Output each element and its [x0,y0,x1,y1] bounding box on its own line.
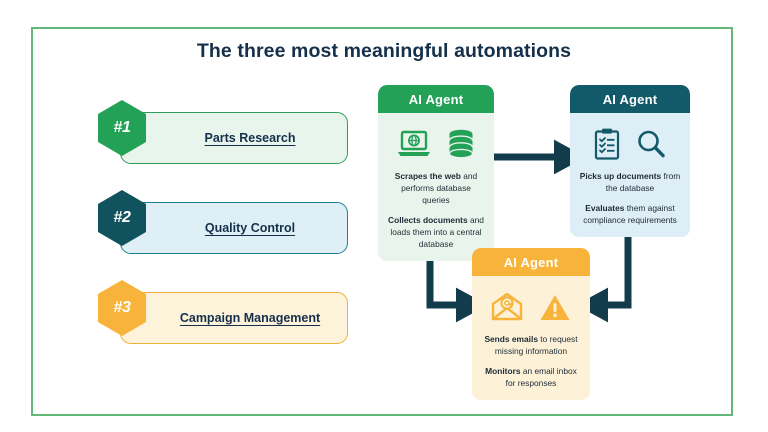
automation-label-1[interactable]: Parts Research [172,131,295,145]
agent-card-3-line-2: Monitors an email inbox for responses [481,366,581,390]
agent-card-2-line-1: Picks up documents from the database [579,171,681,195]
agent-card-3-icons [481,287,581,327]
agent-card-1[interactable]: AI Agent [378,85,494,261]
agent-card-1-icons [387,124,485,164]
agent-card-2-line-2: Evaluates them against compliance requir… [579,203,681,227]
agent-card-3[interactable]: AI Agent Sends emails to request missing… [472,248,590,400]
email-envelope-icon [491,293,523,321]
agent-card-3-header: AI Agent [472,248,590,276]
agent-card-3-body: Sends emails to request missing informat… [472,276,590,400]
agent-card-2-line-1-bold: Picks up documents [580,171,661,181]
automation-item-1[interactable]: Parts Research #1 [98,100,348,164]
agent-card-1-line-2: Collects documents and loads them into a… [387,215,485,251]
automation-number-2: #2 [113,209,130,227]
automation-number-3: #3 [113,299,130,317]
database-icon [447,129,475,160]
arrow-agent2-to-agent3 [604,232,628,305]
page-title: The three most meaningful automations [0,40,768,63]
automation-bar-1[interactable]: Parts Research [120,112,348,164]
agent-card-3-line-1: Sends emails to request missing informat… [481,334,581,358]
slide-canvas: The three most meaningful automations Pa… [0,0,768,432]
automation-item-2[interactable]: Quality Control #2 [98,190,348,254]
agent-card-2-icons [579,124,681,164]
automation-bar-2[interactable]: Quality Control [120,202,348,254]
automation-item-3[interactable]: Campaign Management #3 [98,280,348,344]
agent-card-2-line-2-bold: Evaluates [585,203,624,213]
automation-number-1: #1 [113,119,130,137]
magnifying-glass-icon [636,129,666,159]
agent-card-1-header: AI Agent [378,85,494,113]
warning-triangle-icon [539,293,571,322]
agent-card-3-line-2-bold: Monitors [485,366,520,376]
checklist-clipboard-icon [594,128,620,160]
agent-card-1-line-2-bold: Collects documents [388,215,468,225]
automation-label-2[interactable]: Quality Control [173,221,295,235]
agent-card-2-header: AI Agent [570,85,690,113]
agent-card-2-body: Picks up documents from the database Eva… [570,113,690,237]
agent-card-1-line-1: Scrapes the web and performs database qu… [387,171,485,207]
agent-card-3-line-1-bold: Sends emails [484,334,538,344]
agent-card-1-body: Scrapes the web and performs database qu… [378,113,494,261]
automation-bar-3[interactable]: Campaign Management [120,292,348,344]
laptop-globe-icon [397,129,431,159]
agent-card-2[interactable]: AI Agent Picks up do [570,85,690,237]
automation-label-3[interactable]: Campaign Management [148,311,320,325]
agent-card-1-line-1-bold: Scrapes the web [395,171,461,181]
